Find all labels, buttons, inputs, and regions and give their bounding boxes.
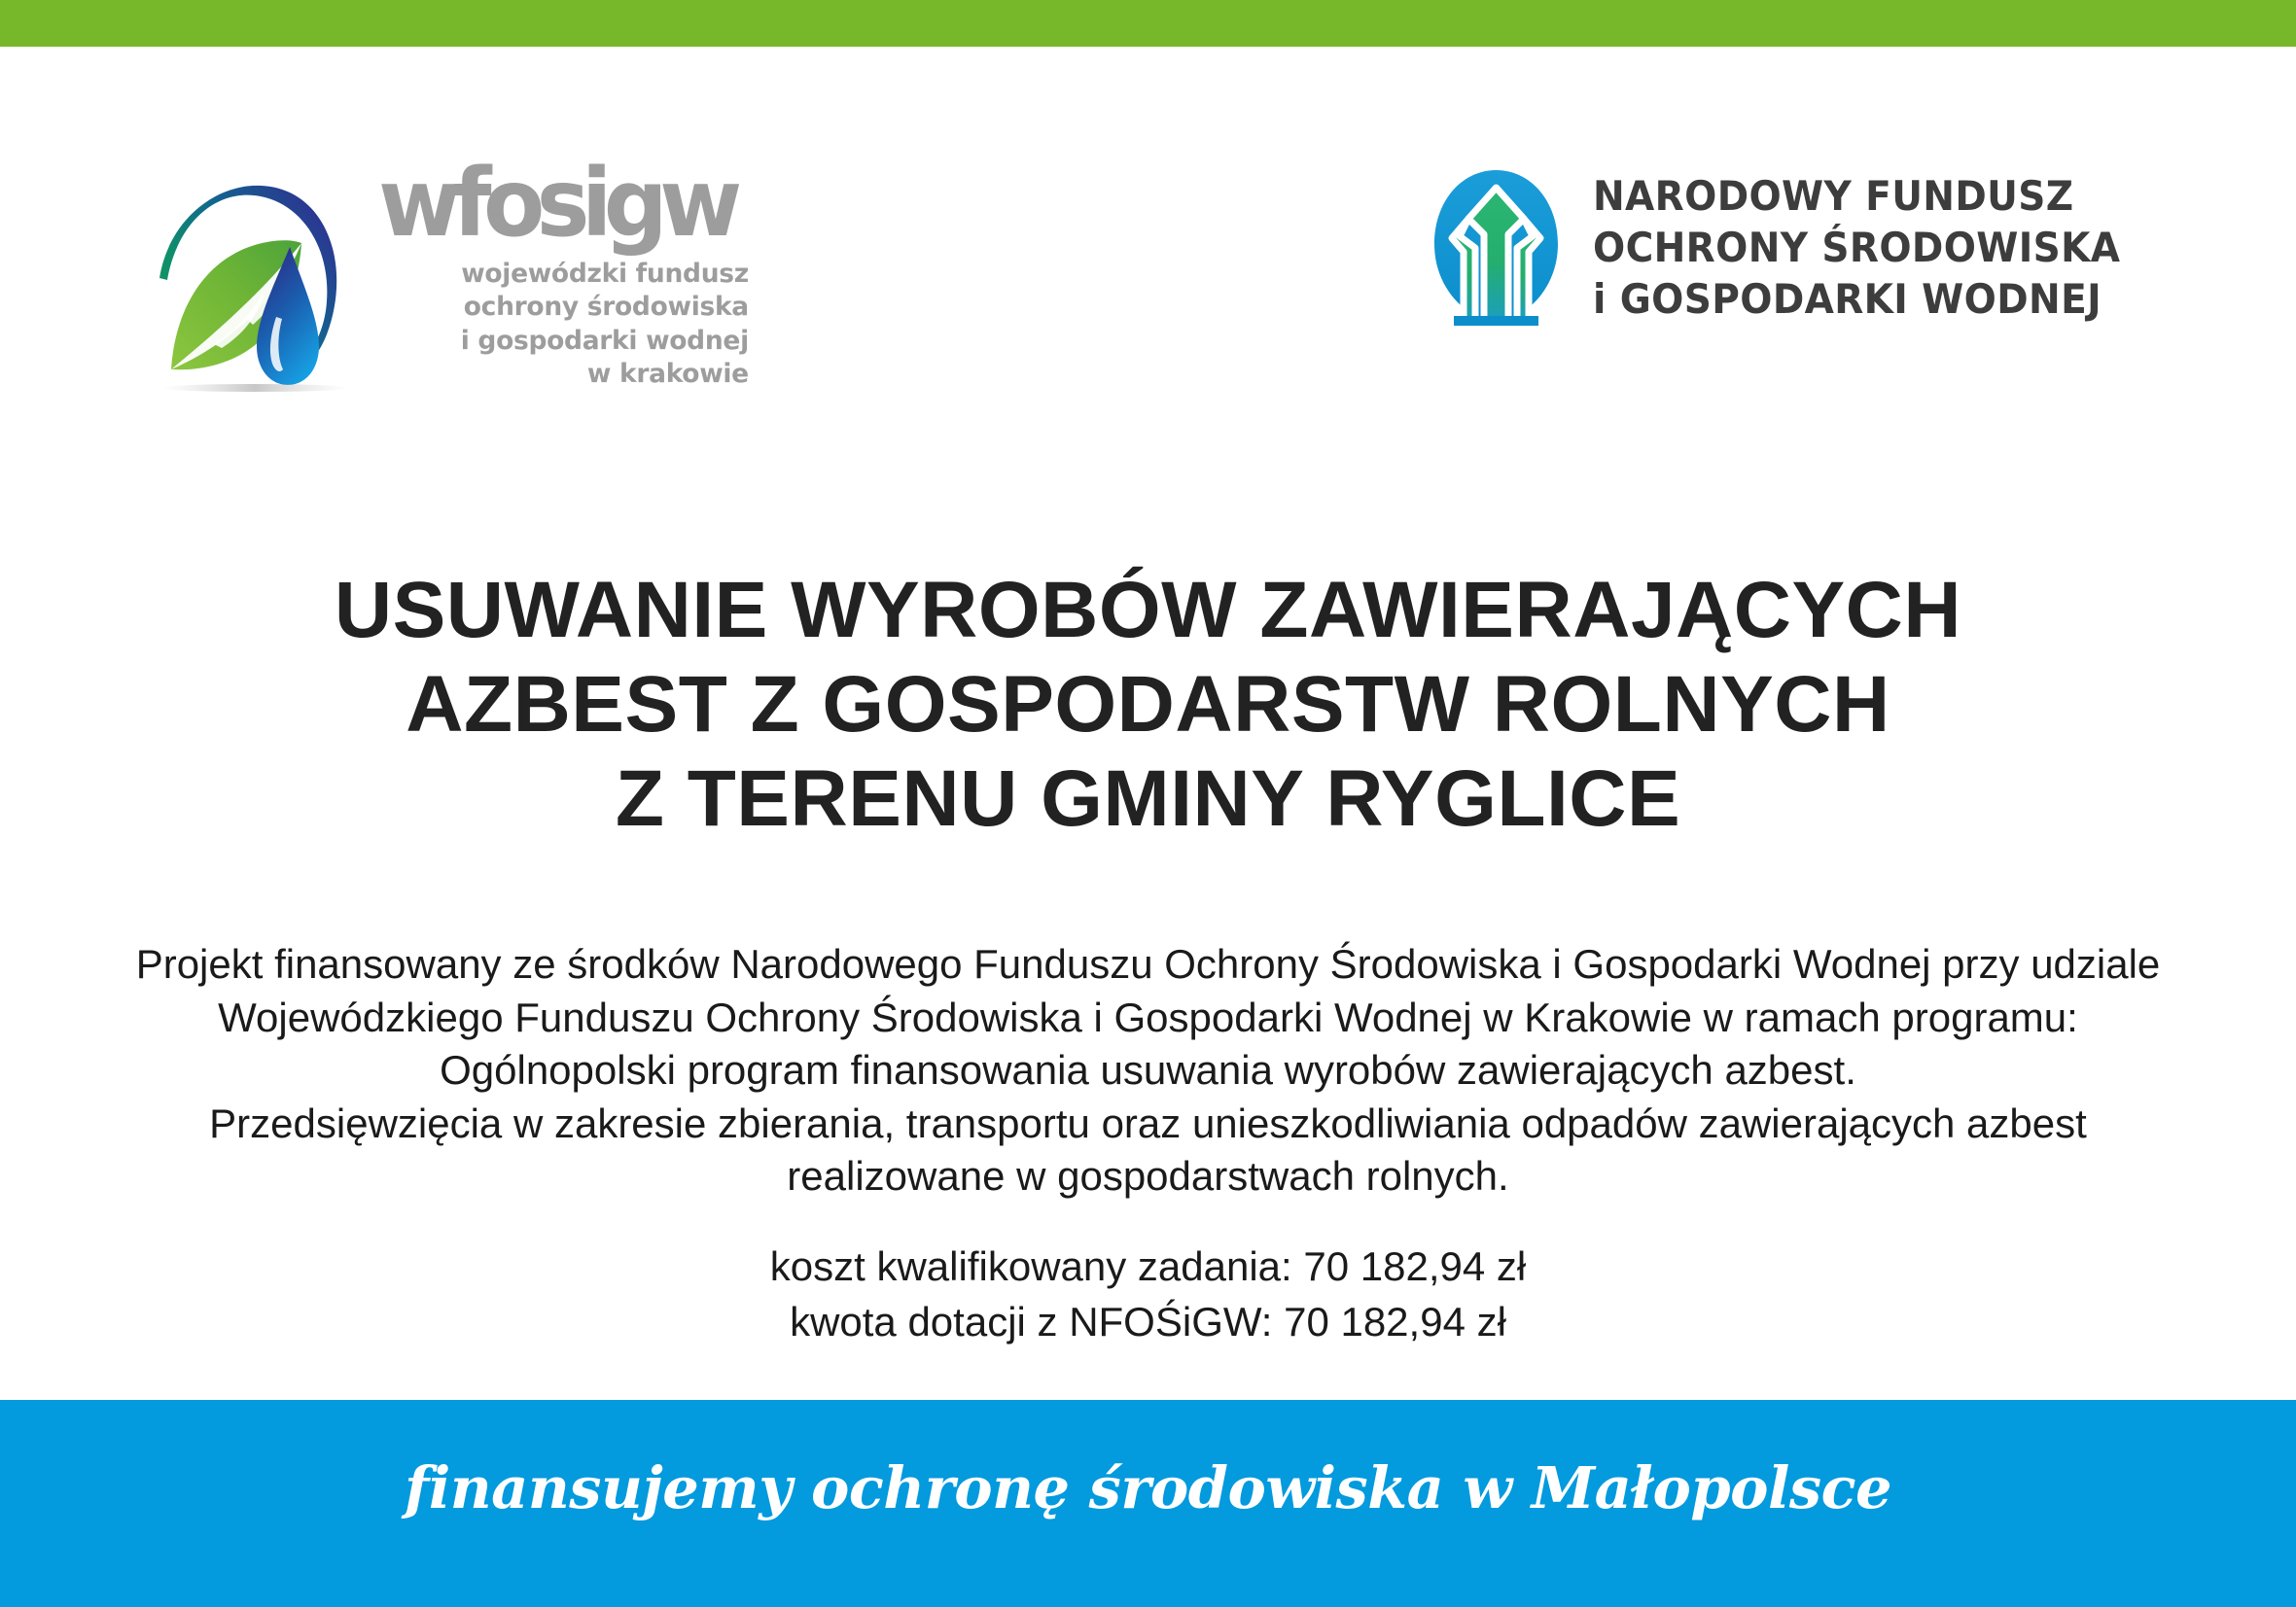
nfosigw-tree-emblem-icon [1431, 168, 1562, 329]
leaf-droplet-arc-icon [146, 163, 365, 392]
page-title-line-2: AZBEST Z GOSPODARSTW ROLNYCH [0, 658, 2296, 752]
wfosigw-subtitle: wojewódzki fundusz ochrony środowiska i … [378, 258, 749, 392]
wfosigw-subtitle-line-2: ochrony środowiska [378, 291, 749, 324]
poster-root: wfosigw wojewódzki fundusz ochrony środo… [0, 0, 2296, 1607]
nfosigw-text-line-1: NARODOWY FUNDUSZ [1593, 171, 2120, 223]
description-paragraph: Projekt finansowany ze środków Narodoweg… [0, 938, 2296, 1204]
wfosigw-subtitle-line-1: wojewódzki fundusz [378, 258, 749, 291]
nfosigw-text-line-3: i GOSPODARKI WODNEJ [1593, 274, 2120, 326]
description-line-4: Przedsięwzięcia w zakresie zbierania, tr… [0, 1098, 2296, 1151]
logo-row: wfosigw wojewódzki fundusz ochrony środo… [0, 47, 2296, 416]
wfosigw-wordmark: wfosigw [378, 165, 734, 242]
nfosigw-text-line-2: OCHRONY ŚRODOWISKA [1593, 223, 2120, 274]
description-line-3: Ogólnopolski program finansowania usuwan… [0, 1044, 2296, 1098]
wfosigw-subtitle-line-3: i gospodarki wodnej [378, 325, 749, 358]
nfosigw-logo: NARODOWY FUNDUSZ OCHRONY ŚRODOWISKA i GO… [1431, 168, 2160, 329]
description-line-1: Projekt finansowany ze środków Narodoweg… [0, 938, 2296, 992]
page-title-line-1: USUWANIE WYROBÓW ZAWIERAJĄCYCH [0, 564, 2296, 658]
grant-amount-line: kwota dotacji z NFOŚiGW: 70 182,94 zł [0, 1295, 2296, 1350]
footer-tagline: finansujemy ochronę środowiska w Małopol… [0, 1454, 2296, 1521]
wfosigw-lockup-text: wfosigw wojewódzki fundusz ochrony środo… [378, 163, 749, 391]
nfosigw-wordmark: NARODOWY FUNDUSZ OCHRONY ŚRODOWISKA i GO… [1593, 171, 2120, 326]
eligible-cost-line: koszt kwalifikowany zadania: 70 182,94 z… [0, 1240, 2296, 1295]
wfosigw-subtitle-line-4: w krakowie [378, 358, 749, 391]
bottom-blue-banner: finansujemy ochronę środowiska w Małopol… [0, 1400, 2296, 1607]
description-line-5: realizowane w gospodarstwach rolnych. [0, 1150, 2296, 1204]
funding-amounts: koszt kwalifikowany zadania: 70 182,94 z… [0, 1240, 2296, 1349]
top-green-bar [0, 0, 2296, 47]
page-title-line-3: Z TERENU GMINY RYGLICE [0, 752, 2296, 847]
page-title: USUWANIE WYROBÓW ZAWIERAJĄCYCH AZBEST Z … [0, 564, 2296, 846]
wfosigw-logo: wfosigw wojewódzki fundusz ochrony środo… [146, 163, 749, 392]
description-line-2: Wojewódzkiego Funduszu Ochrony Środowisk… [0, 992, 2296, 1045]
